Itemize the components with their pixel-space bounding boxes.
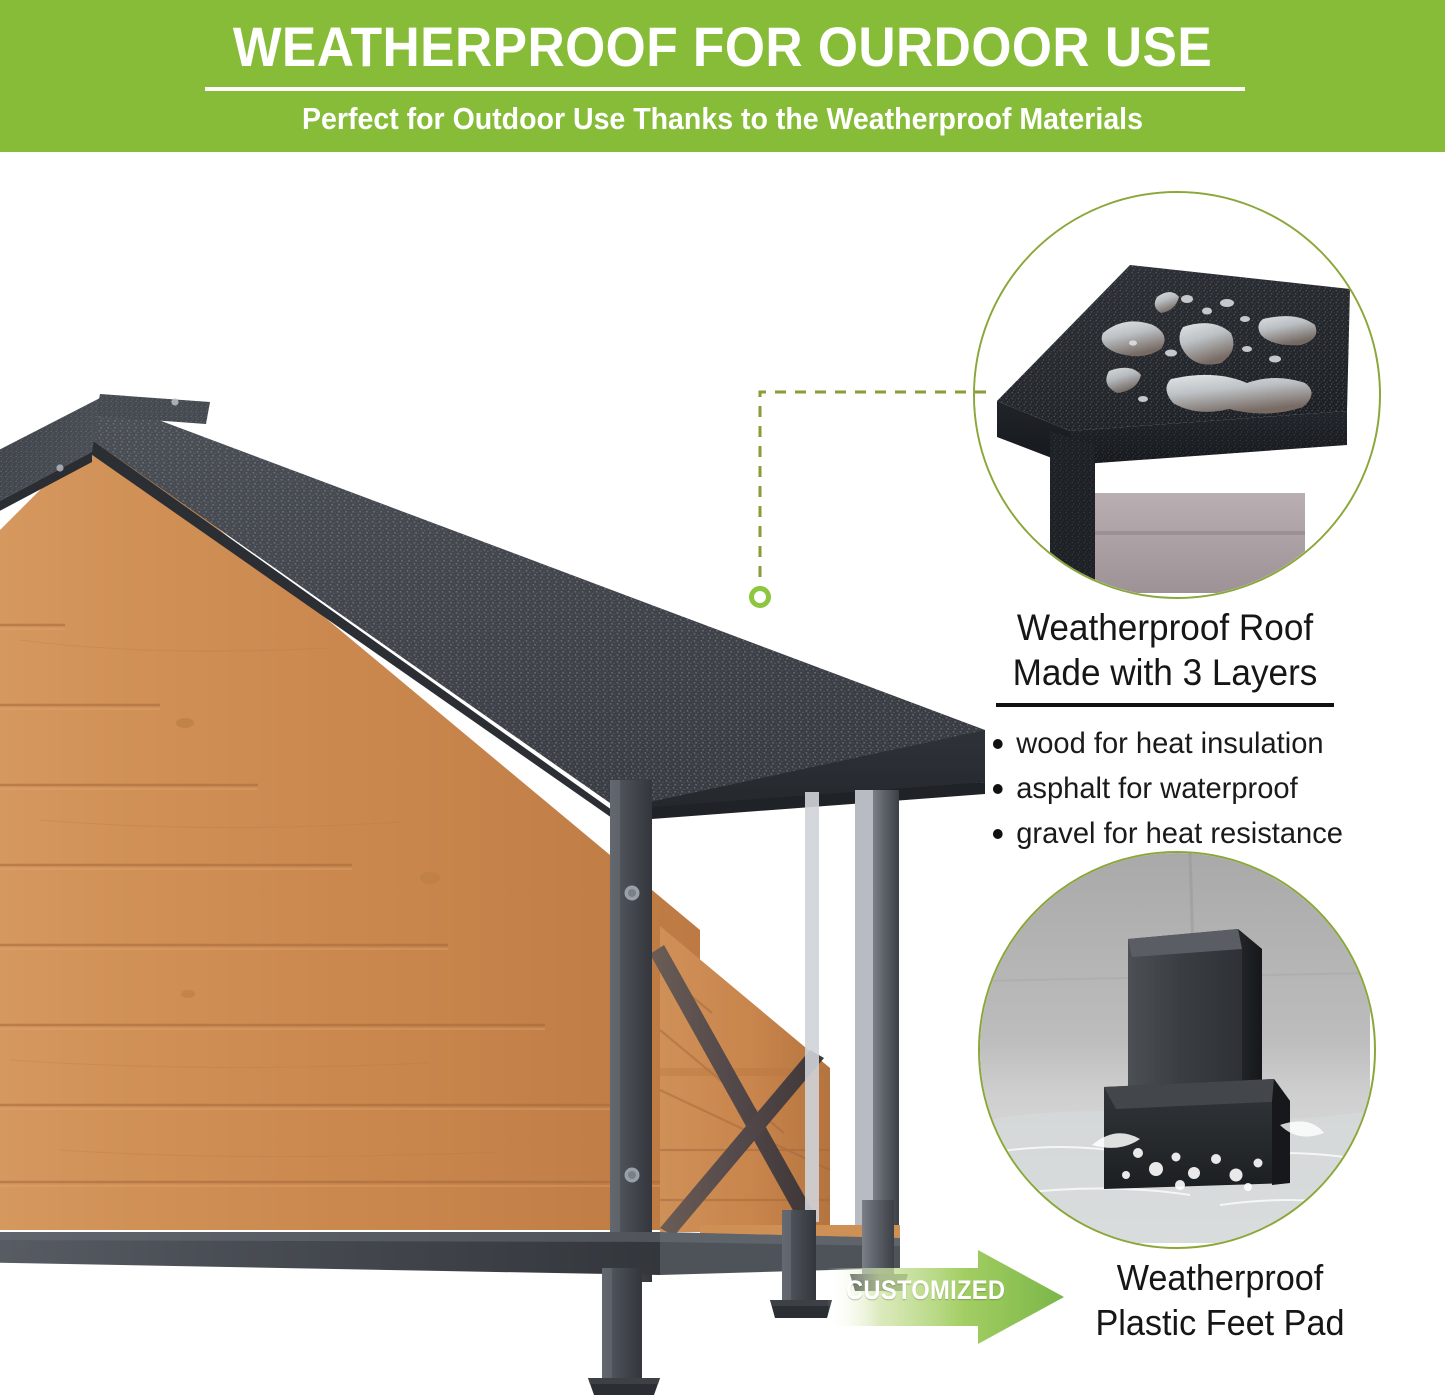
- product-illustration: [0, 170, 990, 1395]
- roof-callout-text: Weatherproof Roof Made with 3 Layers woo…: [975, 605, 1355, 856]
- bullet-dot-icon: [993, 829, 1003, 839]
- foot-pad-photo: [980, 853, 1370, 1243]
- feet-callout-caption: Weatherproof Plastic Feet Pad: [1063, 1255, 1377, 1345]
- banner-subtitle: Perfect for Outdoor Use Thanks to the We…: [58, 100, 1387, 138]
- feet-caption-line1: Weatherproof: [1063, 1255, 1377, 1300]
- bullet-label: wood for heat insulation: [1016, 727, 1323, 760]
- bullet-label: asphalt for waterproof: [1016, 772, 1297, 805]
- base-frame: [0, 1232, 900, 1275]
- roof-bullet-list: wood for heat insulation asphalt for wat…: [991, 721, 1355, 856]
- roof-heading-line1: Weatherproof Roof: [985, 605, 1346, 650]
- bullet-label: gravel for heat resistance: [1016, 817, 1343, 850]
- connector-marker-icon: [749, 586, 771, 608]
- banner-divider: [205, 87, 1245, 91]
- list-item: asphalt for waterproof: [991, 766, 1344, 811]
- roof-water-bead-photo: [975, 193, 1375, 593]
- roof-heading-divider: [996, 703, 1334, 707]
- banner-title: WEATHERPROOF FOR OURDOOR USE: [58, 16, 1387, 78]
- bullet-dot-icon: [993, 784, 1003, 794]
- customized-label: CUSTOMIZED: [846, 1275, 987, 1306]
- header-banner: WEATHERPROOF FOR OURDOOR USE Perfect for…: [0, 0, 1445, 152]
- bullet-dot-icon: [993, 739, 1003, 749]
- corner-post-front: [610, 780, 652, 1282]
- list-item: wood for heat insulation: [991, 721, 1344, 766]
- list-item: gravel for heat resistance: [991, 811, 1344, 856]
- feet-caption-line2: Plastic Feet Pad: [1063, 1300, 1377, 1345]
- callout-roof-closeup: [973, 191, 1381, 599]
- roof-heading-line2: Made with 3 Layers: [985, 650, 1346, 695]
- callout-feet-closeup: [978, 851, 1376, 1249]
